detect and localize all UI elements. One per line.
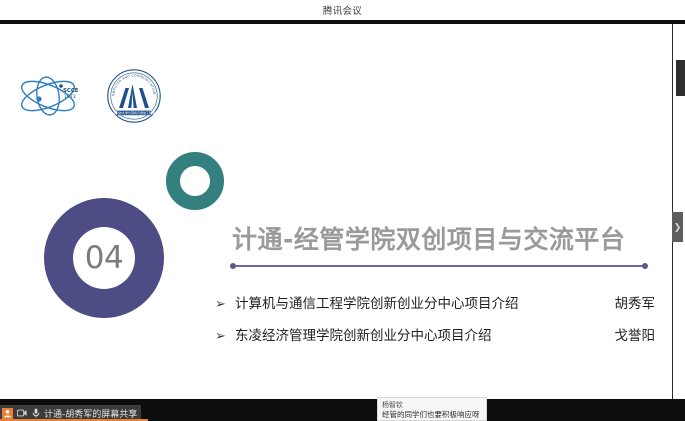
list-item: ➢ 计算机与通信工程学院创新创业分中心项目介绍 胡秀军 [215, 292, 655, 312]
chat-message-text: 经管的同学们也要积极响应呀 [382, 410, 482, 421]
arrow-bullet-icon: ➢ [215, 329, 235, 342]
chat-sender-name: 杨智钦 [382, 400, 482, 410]
section-number: 04 [85, 243, 123, 274]
person-icon [2, 408, 13, 419]
expand-panel-handle[interactable]: ❯ [672, 212, 683, 242]
svg-text:北京科技大学计算机与通信工程学院: 北京科技大学计算机与通信工程学院 [110, 110, 158, 115]
title-rule-dot-left [230, 263, 236, 269]
section-number-donut: 04 [44, 198, 164, 318]
bullet-text: 计算机与通信工程学院创新创业分中心项目介绍 [235, 292, 519, 312]
slide-logo-row: SCCE 1973 SCHOOL OF COMPUTER AND COMMUNI… [18, 68, 162, 124]
slide-title: 计通-经管学院双创项目与交流平台 [232, 220, 652, 256]
svg-text:SCCE: SCCE [63, 88, 79, 94]
title-rule-dot-right [642, 263, 648, 269]
microphone-icon[interactable] [30, 408, 41, 419]
decorative-teal-ring [166, 152, 224, 210]
shared-screen-stage: SCCE 1973 SCHOOL OF COMPUTER AND COMMUNI… [0, 24, 673, 399]
bullet-speaker: 胡秀军 [597, 292, 656, 312]
scce-atom-icon: SCCE 1973 [18, 75, 82, 117]
university-seal-logo: SCHOOL OF COMPUTER AND COMMUNICATION ENG… [106, 68, 162, 124]
camera-icon[interactable] [16, 408, 27, 419]
list-item: ➢ 东凌经济管理学院创新创业分中心项目介绍 戈誉阳 [215, 324, 655, 344]
scce-atom-logo: SCCE 1973 [18, 75, 82, 117]
bullet-speaker: 戈誉阳 [597, 324, 656, 344]
slide-bullet-list: ➢ 计算机与通信工程学院创新创业分中心项目介绍 胡秀军 ➢ 东凌经济管理学院创新… [215, 292, 655, 356]
chat-message-toast[interactable]: 杨智钦 经管的同学们也要积极响应呀 [377, 397, 487, 421]
section-number-inner-circle: 04 [73, 227, 135, 289]
bullet-text: 东凌经济管理学院创新创业分中心项目介绍 [235, 324, 492, 344]
svg-text:1973: 1973 [64, 94, 76, 100]
title-underline-rule [233, 265, 645, 267]
screen-share-label: 计通-胡秀军的屏幕共享 [44, 407, 137, 420]
university-seal-icon: SCHOOL OF COMPUTER AND COMMUNICATION ENG… [106, 68, 162, 124]
window-title-bar: 腾讯会议 [0, 0, 685, 20]
arrow-bullet-icon: ➢ [215, 297, 235, 310]
scrollbar-thumb[interactable] [676, 60, 685, 96]
app-title: 腾讯会议 [323, 3, 362, 17]
tencent-meeting-window: 腾讯会议 SCCE 1973 [0, 0, 685, 421]
chevron-right-icon: ❯ [674, 223, 682, 232]
